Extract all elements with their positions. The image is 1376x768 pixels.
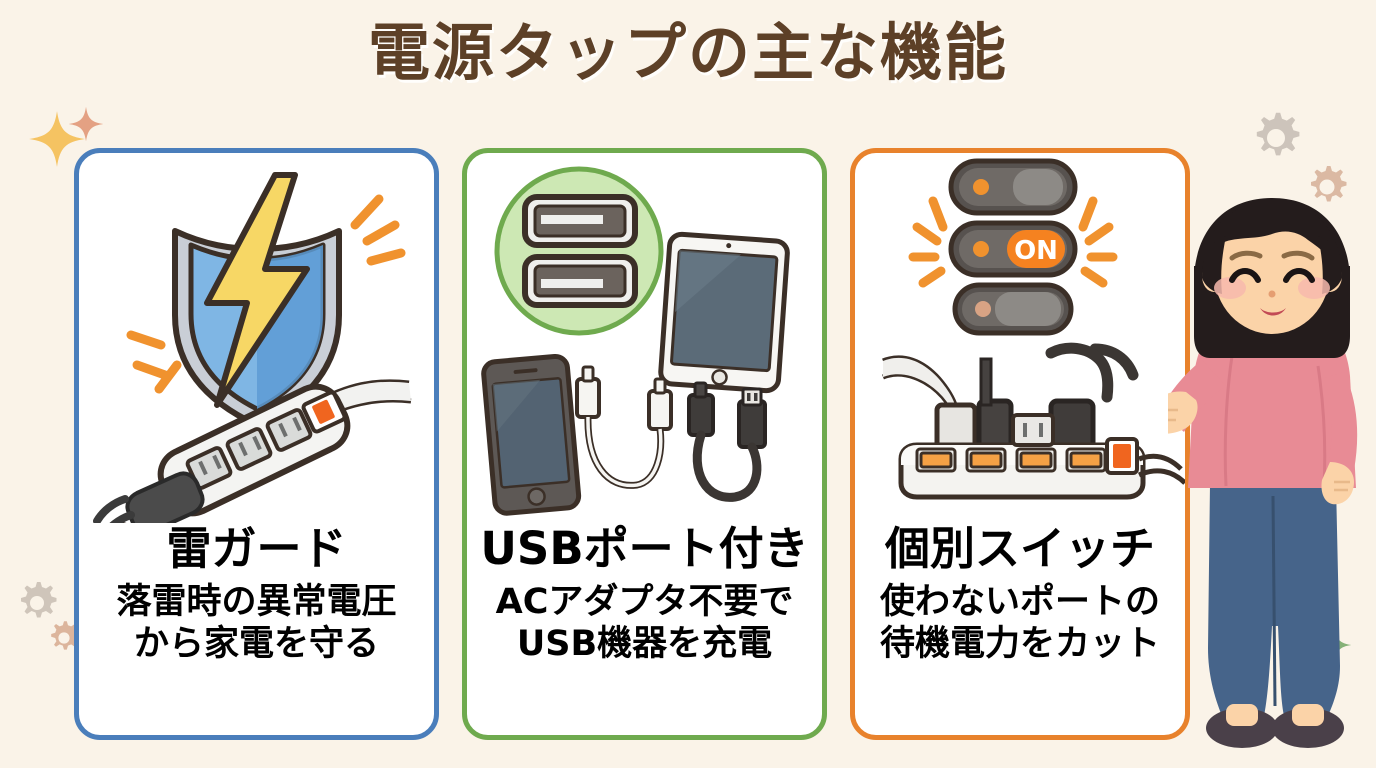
usb-port-circle xyxy=(497,169,661,333)
page-title: 電源タップの主な機能 xyxy=(0,16,1376,90)
card-description: 使わないポートの 待機電力をカット xyxy=(880,582,1160,665)
card-heading: 個別スイッチ xyxy=(885,525,1155,572)
smartphone-icon xyxy=(483,355,580,514)
card-description-line1: 落雷時の異常電圧 xyxy=(116,582,396,623)
card-description-line2: から家電を守る xyxy=(116,624,396,665)
plug-icon xyxy=(97,473,203,523)
card-description: 落雷時の異常電圧 から家電を守る xyxy=(116,582,396,665)
gear-gray-top-icon xyxy=(1246,108,1306,168)
card-illustration-shield xyxy=(79,153,434,523)
card-description-line2: USB機器を充電 xyxy=(496,624,794,665)
gear-gray-icon xyxy=(12,578,62,628)
infographic-canvas: 電源タップの主な機能 xyxy=(0,0,1376,768)
toggle-switch-on: ON xyxy=(951,223,1075,275)
plug-white xyxy=(937,405,975,449)
card-illustration-usb xyxy=(467,153,822,523)
feature-card-individual-switch[interactable]: ON xyxy=(850,148,1190,740)
usb-port-lower-icon xyxy=(525,257,635,305)
card-description-line1: 使わないポートの xyxy=(880,582,1160,623)
plug-black-wide xyxy=(1051,401,1093,449)
toggle-switch-off-top xyxy=(951,161,1075,213)
woman-pointing-illustration xyxy=(1168,196,1376,768)
card-heading: USBポート付き xyxy=(480,525,808,572)
power-strip-multi-icon xyxy=(883,348,1185,497)
toggle-switch-off-bottom xyxy=(955,285,1071,333)
card-heading: 雷ガード xyxy=(166,525,346,572)
card-description-line1: ACアダプタ不要で xyxy=(496,582,794,623)
burst-lines-icon xyxy=(355,199,401,261)
usb-cable-black-icon xyxy=(689,383,765,497)
plug-black-thin xyxy=(979,401,1011,449)
card-description-line2: 待機電力をカット xyxy=(880,624,1160,665)
sparkle-salmon-icon xyxy=(68,106,104,142)
burst-lines-right-icon xyxy=(1083,201,1113,283)
tablet-icon xyxy=(660,234,788,392)
burst-lines-left-icon xyxy=(913,201,943,283)
feature-card-usb-port[interactable]: USBポート付き ACアダプタ不要で USB機器を充電 xyxy=(462,148,827,740)
card-illustration-switches: ON xyxy=(855,153,1185,523)
switch-on-label: ON xyxy=(1014,236,1058,266)
feature-card-lightning-guard[interactable]: 雷ガード 落雷時の異常電圧 から家電を守る xyxy=(74,148,439,740)
card-description: ACアダプタ不要で USB機器を充電 xyxy=(496,582,794,665)
usb-cable-white-icon xyxy=(577,367,671,485)
usb-port-upper-icon xyxy=(525,197,635,245)
